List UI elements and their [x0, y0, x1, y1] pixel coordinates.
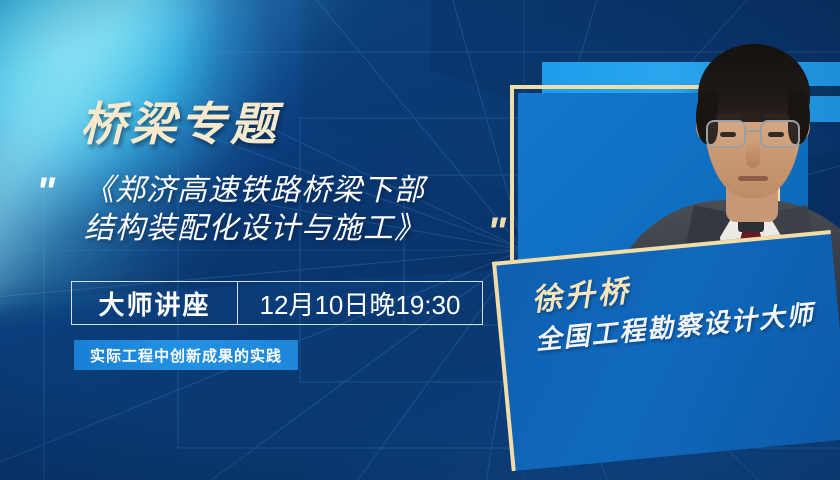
- speaker-nameplate: 徐升桥 全国工程勘察设计大师: [492, 230, 840, 471]
- page-title: 桥梁专题: [80, 101, 280, 147]
- speaker-photo-zone: 徐升桥 全国工程勘察设计大师: [480, 0, 840, 480]
- poster-canvas: 徐升桥 全国工程勘察设计大师 桥梁专题 " 《郑济高速铁路桥梁下部 结构装配化设…: [0, 0, 840, 480]
- lecture-subtitle-line-1: 《郑济高速铁路桥梁下部: [84, 172, 504, 210]
- tagline-label: 实际工程中创新成果的实践: [90, 345, 282, 366]
- quote-close-icon: ": [487, 212, 502, 252]
- lecture-subtitle-line-2: 结构装配化设计与施工》: [84, 210, 504, 248]
- quote-open-icon: ": [36, 172, 51, 212]
- lecture-datetime: 12月10日晚19:30: [238, 282, 482, 324]
- lecture-category: 大师讲座: [72, 282, 238, 324]
- lecture-info-bar: 大师讲座 12月10日晚19:30: [71, 281, 483, 325]
- lecture-subtitle: 《郑济高速铁路桥梁下部 结构装配化设计与施工》: [84, 172, 504, 249]
- lecture-category-label: 大师讲座: [98, 285, 210, 322]
- tagline-badge: 实际工程中创新成果的实践: [74, 340, 298, 370]
- lecture-datetime-label: 12月10日晚19:30: [260, 285, 461, 322]
